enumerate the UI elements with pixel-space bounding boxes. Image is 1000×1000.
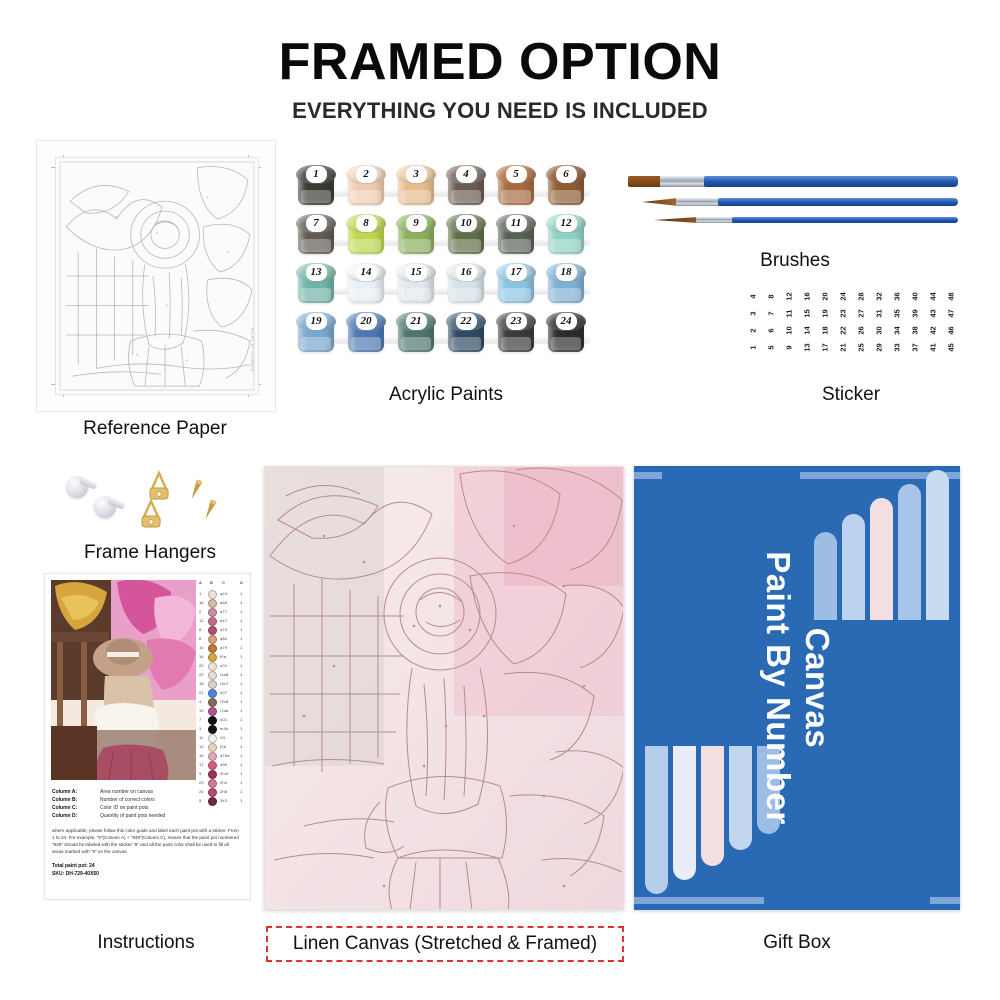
paint-pot-24: 24 bbox=[546, 312, 586, 354]
paint-pot-number: 22 bbox=[446, 313, 486, 330]
legend-color-id: u01 bbox=[220, 717, 227, 722]
legend-quantity: 1 bbox=[240, 744, 242, 749]
d-ring-hanger-1 bbox=[144, 470, 174, 500]
legend-color-id: r0l bbox=[220, 735, 225, 740]
instructions-note: where applicable, please follow this col… bbox=[52, 827, 240, 855]
paint-pot-number: 9 bbox=[396, 215, 436, 232]
legend-quantity: 1 bbox=[240, 708, 242, 713]
sticker-number-19: 19 bbox=[821, 307, 830, 321]
legend-row: 8a701 bbox=[198, 625, 245, 634]
sticker-number-43: 43 bbox=[929, 307, 938, 321]
legend-row: 1a241 bbox=[198, 589, 245, 598]
instructions-sheet-image: ABCD1a24116a8812a77112b4718a7016a8b110a7… bbox=[44, 573, 251, 900]
sticker-number-4: 4 bbox=[749, 290, 758, 304]
paint-pot-3: 3 bbox=[396, 165, 436, 207]
paint-pot-12: 12 bbox=[546, 214, 586, 256]
legend-quantity: 1 bbox=[240, 636, 242, 641]
legend-area-number: 10 bbox=[199, 645, 203, 650]
legend-quantity: 1 bbox=[240, 762, 242, 767]
sticker-number-22: 22 bbox=[839, 324, 848, 338]
legend-quantity: 1 bbox=[240, 717, 242, 722]
paint-pot-number: 3 bbox=[396, 166, 436, 183]
legend-color-id: a88 bbox=[220, 600, 227, 605]
legend-row: 6a8b1 bbox=[198, 634, 245, 643]
brush-round bbox=[642, 198, 958, 206]
sticker-number-6: 6 bbox=[767, 324, 776, 338]
legend-row: 19i7aa1 bbox=[198, 706, 245, 715]
legend-row: 11r0l1 bbox=[198, 733, 245, 742]
paint-pot-1: 1 bbox=[296, 165, 336, 207]
sticker-number-27: 27 bbox=[857, 307, 866, 321]
paint-pot-19: 19 bbox=[296, 312, 336, 354]
paint-pot-17: 17 bbox=[496, 263, 536, 305]
legend-row: 92n1f1 bbox=[198, 769, 245, 778]
paint-pot-row: 123456 bbox=[296, 165, 596, 209]
sticker-number-24: 24 bbox=[839, 290, 848, 304]
legend-quantity: 1 bbox=[240, 771, 242, 776]
legend-quantity: 1 bbox=[240, 780, 242, 785]
linen-canvas-image bbox=[264, 466, 624, 910]
legend-quantity: 1 bbox=[240, 609, 242, 614]
sticker-number-48: 48 bbox=[947, 290, 956, 304]
page-title: FRAMED OPTION bbox=[0, 32, 1000, 92]
legend-area-number: 19 bbox=[199, 708, 203, 713]
sticker-number-5: 5 bbox=[767, 341, 776, 355]
legend-color-id: a70 bbox=[220, 627, 227, 632]
column-line: Column C: Color ID on paint pots bbox=[52, 805, 244, 813]
legend-color-id: l1b7 bbox=[220, 681, 228, 686]
legend-color-id: a77 bbox=[220, 609, 227, 614]
instructions-thumbnail bbox=[51, 580, 196, 780]
sticker-number-10: 10 bbox=[785, 324, 794, 338]
sticker-number-46: 46 bbox=[947, 324, 956, 338]
legend-row: 21n071 bbox=[198, 688, 245, 697]
legend-color-id: b47 bbox=[220, 618, 227, 623]
brush-liner bbox=[654, 217, 958, 223]
paint-pot-16: 16 bbox=[446, 263, 486, 305]
legend-area-number: 6 bbox=[199, 636, 201, 641]
paint-pot-number: 6 bbox=[546, 166, 586, 183]
sticker-number-3: 3 bbox=[749, 307, 758, 321]
gift-box-image: Canvas Paint By Number bbox=[634, 466, 960, 910]
sticker-number-15: 15 bbox=[803, 307, 812, 321]
caption-acrylic-paints: Acrylic Paints bbox=[296, 384, 596, 406]
sticker-number-18: 18 bbox=[821, 324, 830, 338]
caption-reference-paper: Reference Paper bbox=[36, 418, 274, 440]
paint-pot-number: 10 bbox=[446, 215, 486, 232]
legend-color-id: 2n1f bbox=[220, 771, 229, 776]
reference-side-code: PAINT BY NUMBER bbox=[250, 328, 255, 372]
caption-brushes: Brushes bbox=[700, 250, 890, 272]
wall-plug-2 bbox=[94, 496, 124, 522]
paint-pot-7: 7 bbox=[296, 214, 336, 256]
paint-pot-number: 13 bbox=[296, 264, 336, 281]
legend-color-id: m4k bbox=[220, 726, 228, 731]
reference-paper-image: PAINT BY NUMBER bbox=[36, 140, 276, 412]
column-line: Column A: Area number on canvas bbox=[52, 789, 244, 797]
sticker-number-36: 36 bbox=[893, 290, 902, 304]
sticker-sheet-image: 1234567891011121314151617181920212223242… bbox=[742, 286, 960, 364]
instructions-text: Column A: Area number on canvas Column B… bbox=[52, 789, 244, 878]
paint-pot-15: 15 bbox=[396, 263, 436, 305]
paint-pot-9: 9 bbox=[396, 214, 436, 256]
legend-color-id: f2b bbox=[220, 744, 226, 749]
brushes-image bbox=[628, 172, 958, 252]
paint-pot-number: 7 bbox=[296, 215, 336, 232]
sticker-number-47: 47 bbox=[947, 307, 956, 321]
paint-pot-number: 4 bbox=[446, 166, 486, 183]
paint-pot-5: 5 bbox=[496, 165, 536, 207]
paint-pot-row: 131415161718 bbox=[296, 263, 596, 307]
caption-gift-box: Gift Box bbox=[634, 932, 960, 954]
paint-pot-18: 18 bbox=[546, 263, 586, 305]
sticker-number-8: 8 bbox=[767, 290, 776, 304]
paint-pot-21: 21 bbox=[396, 312, 436, 354]
sticker-number-31: 31 bbox=[875, 307, 884, 321]
legend-quantity: 1 bbox=[240, 645, 242, 650]
paint-pot-number: 12 bbox=[546, 215, 586, 232]
legend-color-id: n07 bbox=[220, 690, 227, 695]
product-infographic: FRAMED OPTION EVERYTHING YOU NEED IS INC… bbox=[0, 0, 1000, 1000]
caption-linen-canvas: Linen Canvas (Stretched & Framed) bbox=[266, 926, 624, 962]
legend-row: 232hh1 bbox=[198, 778, 245, 787]
paint-pot-22: 22 bbox=[446, 312, 486, 354]
legend-color-id: n01 bbox=[220, 663, 227, 668]
legend-row: 14f0a1 bbox=[198, 652, 245, 661]
legend-area-number: 8 bbox=[199, 627, 201, 632]
gift-box-line-1: Canvas bbox=[797, 551, 836, 824]
sticker-number-33: 33 bbox=[893, 341, 902, 355]
legend-color-id: f0a bbox=[220, 654, 226, 659]
legend-area-number: 1 bbox=[199, 591, 201, 596]
legend-row: 13f2b1 bbox=[198, 742, 245, 751]
caption-sticker: Sticker bbox=[742, 384, 960, 406]
legend-area-number: 11 bbox=[199, 735, 203, 740]
legend-area-number: 18 bbox=[199, 681, 203, 686]
legend-color-id: a8b bbox=[220, 636, 227, 641]
legend-color-id: a24 bbox=[220, 591, 227, 596]
paint-pot-2: 2 bbox=[346, 165, 386, 207]
sticker-number-23: 23 bbox=[839, 307, 848, 321]
legend-quantity: 1 bbox=[240, 690, 242, 695]
sticker-number-9: 9 bbox=[785, 341, 794, 355]
legend-area-number: 7 bbox=[199, 717, 201, 722]
legend-quantity: 1 bbox=[240, 627, 242, 632]
legend-area-number: 16 bbox=[199, 600, 203, 605]
paint-pot-number: 1 bbox=[296, 166, 336, 183]
paint-pot-number: 11 bbox=[496, 215, 536, 232]
legend-quantity: 1 bbox=[240, 654, 242, 659]
legend-quantity: 1 bbox=[240, 663, 242, 668]
legend-area-number: 13 bbox=[199, 744, 203, 749]
legend-color-id: d9b bbox=[220, 762, 227, 767]
paint-pot-number: 17 bbox=[496, 264, 536, 281]
legend-area-number: 2 bbox=[199, 609, 201, 614]
paint-pot-number: 19 bbox=[296, 313, 336, 330]
paint-pot-number: 18 bbox=[546, 264, 586, 281]
legend-row: 17d9b1 bbox=[198, 760, 245, 769]
paint-pot-row: 192021222324 bbox=[296, 312, 596, 356]
legend-area-number: 3 bbox=[199, 726, 201, 731]
paint-pot-number: 15 bbox=[396, 264, 436, 281]
legend-row: 15d79a1 bbox=[198, 751, 245, 760]
screw-1 bbox=[188, 475, 206, 501]
legend-row: 12b471 bbox=[198, 616, 245, 625]
paint-pot-number: 2 bbox=[346, 166, 386, 183]
column-line: Column D: Quantity of paint pots needed bbox=[52, 813, 244, 821]
paint-pot-number: 23 bbox=[496, 313, 536, 330]
sticker-number-12: 12 bbox=[785, 290, 794, 304]
paint-pot-8: 8 bbox=[346, 214, 386, 256]
legend-color-id: l1a8 bbox=[220, 672, 228, 677]
legend-quantity: 1 bbox=[240, 735, 242, 740]
gift-box-line-2: Paint By Number bbox=[758, 551, 797, 824]
sticker-number-26: 26 bbox=[857, 324, 866, 338]
legend-area-number: 23 bbox=[199, 780, 203, 785]
paint-pot-20: 20 bbox=[346, 312, 386, 354]
legend-row: 20n011 bbox=[198, 661, 245, 670]
legend-area-number: 9 bbox=[199, 771, 201, 776]
sticker-number-25: 25 bbox=[857, 341, 866, 355]
legend-area-number: 14 bbox=[199, 654, 203, 659]
sticker-number-21: 21 bbox=[839, 341, 848, 355]
sticker-number-37: 37 bbox=[911, 341, 920, 355]
legend-row: 10a791 bbox=[198, 643, 245, 652]
sticker-number-35: 35 bbox=[893, 307, 902, 321]
legend-header-B: B bbox=[210, 580, 213, 585]
legend-area-number: 21 bbox=[199, 690, 203, 695]
legend-color-id: i7aa bbox=[220, 708, 228, 713]
legend-quantity: 1 bbox=[240, 681, 242, 686]
sticker-number-38: 38 bbox=[911, 324, 920, 338]
screw-2 bbox=[202, 495, 220, 521]
legend-row: 4i7b81 bbox=[198, 697, 245, 706]
sticker-number-13: 13 bbox=[803, 341, 812, 355]
paint-pot-number: 14 bbox=[346, 264, 386, 281]
paint-pot-4: 4 bbox=[446, 165, 486, 207]
legend-row: 7u011 bbox=[198, 715, 245, 724]
legend-header-D: D bbox=[240, 580, 243, 585]
gift-box-title: Canvas Paint By Number bbox=[758, 551, 836, 824]
sticker-number-28: 28 bbox=[857, 290, 866, 304]
sticker-number-34: 34 bbox=[893, 324, 902, 338]
paint-pot-13: 13 bbox=[296, 263, 336, 305]
column-line: Column B: Number of correct colors bbox=[52, 797, 244, 805]
sticker-number-1: 1 bbox=[749, 341, 758, 355]
sku-line: SKU: DH-729-40X50 bbox=[52, 870, 244, 878]
sticker-number-16: 16 bbox=[803, 290, 812, 304]
legend-header-row: ABCD bbox=[198, 580, 245, 587]
legend-header-C: C bbox=[222, 580, 225, 585]
legend-quantity: 1 bbox=[240, 672, 242, 677]
legend-area-number: 4 bbox=[199, 699, 201, 704]
legend-header-A: A bbox=[199, 580, 202, 585]
legend-quantity: 1 bbox=[240, 591, 242, 596]
paint-pot-number: 20 bbox=[346, 313, 386, 330]
legend-row: 22l1a81 bbox=[198, 670, 245, 679]
paint-pot-23: 23 bbox=[496, 312, 536, 354]
legend-quantity: 1 bbox=[240, 726, 242, 731]
sticker-number-14: 14 bbox=[803, 324, 812, 338]
legend-area-number: 17 bbox=[199, 762, 203, 767]
sticker-number-11: 11 bbox=[785, 307, 794, 321]
paint-pot-number: 5 bbox=[496, 166, 536, 183]
paint-pot-number: 21 bbox=[396, 313, 436, 330]
sticker-number-20: 20 bbox=[821, 290, 830, 304]
wall-plug-1 bbox=[66, 476, 96, 502]
sticker-number-30: 30 bbox=[875, 324, 884, 338]
legend-area-number: 20 bbox=[199, 663, 203, 668]
caption-instructions: Instructions bbox=[36, 932, 256, 954]
paint-pot-11: 11 bbox=[496, 214, 536, 256]
legend-row: 3m4k1 bbox=[198, 724, 245, 733]
frame-hangers-image bbox=[60, 468, 240, 548]
page-subtitle: EVERYTHING YOU NEED IS INCLUDED bbox=[0, 98, 1000, 124]
legend-color-id: a79 bbox=[220, 645, 227, 650]
sticker-number-17: 17 bbox=[821, 341, 830, 355]
legend-area-number: 12 bbox=[199, 618, 203, 623]
paint-pot-number: 24 bbox=[546, 313, 586, 330]
legend-quantity: 1 bbox=[240, 699, 242, 704]
legend-quantity: 1 bbox=[240, 753, 242, 758]
caption-frame-hangers: Frame Hangers bbox=[36, 542, 264, 564]
sticker-number-2: 2 bbox=[749, 324, 758, 338]
paint-pot-row: 789101112 bbox=[296, 214, 596, 258]
paint-pot-10: 10 bbox=[446, 214, 486, 256]
legend-quantity: 1 bbox=[240, 600, 242, 605]
sticker-number-44: 44 bbox=[929, 290, 938, 304]
legend-color-id: i7b8 bbox=[220, 699, 228, 704]
paint-pot-number: 16 bbox=[446, 264, 486, 281]
acrylic-paints-image: 123456789101112131415161718192021222324 bbox=[296, 165, 596, 361]
total-paint-pot: Total paint pot: 24 bbox=[52, 862, 244, 870]
legend-area-number: 15 bbox=[199, 753, 203, 758]
legend-row: 2a771 bbox=[198, 607, 245, 616]
paint-pot-14: 14 bbox=[346, 263, 386, 305]
sticker-number-42: 42 bbox=[929, 324, 938, 338]
sticker-number-41: 41 bbox=[929, 341, 938, 355]
sticker-number-45: 45 bbox=[947, 341, 956, 355]
reference-line-art: PAINT BY NUMBER bbox=[55, 157, 259, 395]
sticker-number-40: 40 bbox=[911, 290, 920, 304]
sticker-number-29: 29 bbox=[875, 341, 884, 355]
legend-color-id: 2hh bbox=[220, 780, 227, 785]
instructions-color-legend: ABCD1a24116a8812a77112b4718a7016a8b110a7… bbox=[198, 580, 245, 808]
legend-quantity: 1 bbox=[240, 618, 242, 623]
brush-flat bbox=[628, 176, 958, 187]
legend-row: 16a881 bbox=[198, 598, 245, 607]
legend-area-number: 22 bbox=[199, 672, 203, 677]
d-ring-hanger-2 bbox=[136, 498, 166, 528]
paint-pot-6: 6 bbox=[546, 165, 586, 207]
legend-row: 18l1b71 bbox=[198, 679, 245, 688]
legend-color-id: d79a bbox=[220, 753, 230, 758]
paint-pot-number: 8 bbox=[346, 215, 386, 232]
sticker-number-7: 7 bbox=[767, 307, 776, 321]
sticker-number-39: 39 bbox=[911, 307, 920, 321]
sticker-number-32: 32 bbox=[875, 290, 884, 304]
